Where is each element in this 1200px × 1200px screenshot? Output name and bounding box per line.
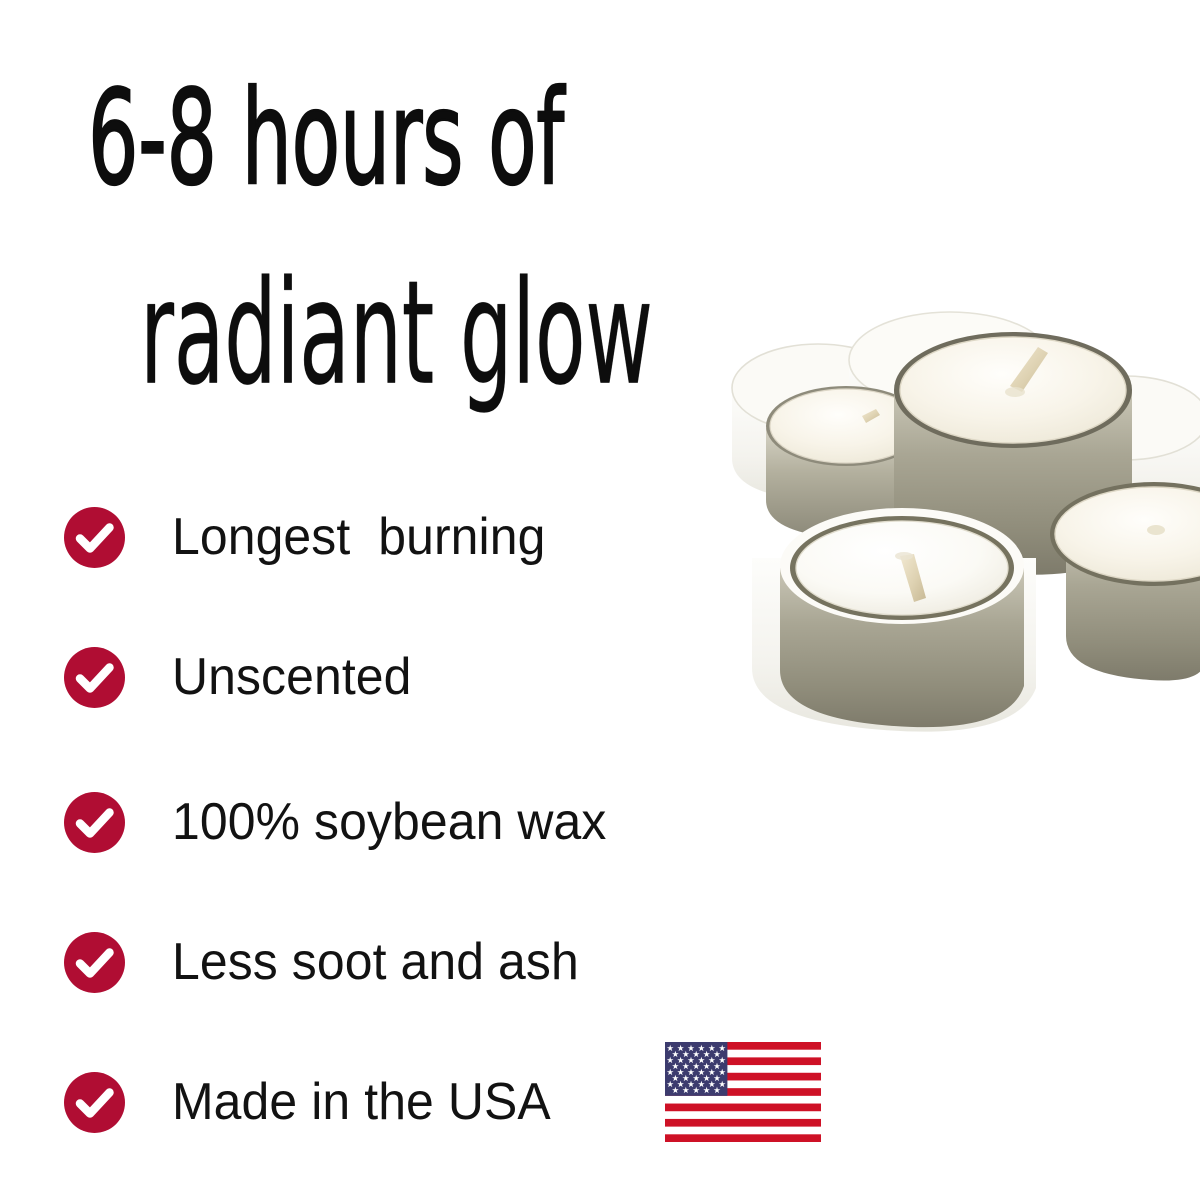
tealight-candles-photo [714, 268, 1200, 752]
list-item: Longest burning [64, 505, 561, 569]
check-circle-icon [64, 792, 125, 853]
usa-flag-icon [665, 1042, 821, 1142]
check-circle-icon [64, 1072, 125, 1133]
list-item: Less soot and ash [64, 930, 596, 994]
headline-line-2: radiant glow [140, 262, 560, 406]
feature-label: Less soot and ash [172, 934, 579, 990]
feature-label: Unscented [172, 649, 412, 705]
headline-line-1: 6-8 hours of [88, 74, 522, 205]
list-item: Unscented [64, 645, 422, 709]
candle-front-bottom [752, 508, 1036, 732]
check-circle-icon [64, 647, 125, 708]
candle-right-front [1050, 482, 1200, 681]
feature-label: Longest burning [172, 509, 545, 565]
feature-label: Made in the USA [172, 1074, 551, 1130]
check-circle-icon [64, 507, 125, 568]
list-item: 100% soybean wax [64, 790, 625, 854]
infographic-canvas: 6-8 hours of radiant glow Longest burnin… [0, 0, 1200, 1200]
list-item: Made in the USA [64, 1070, 567, 1134]
check-circle-icon [64, 932, 125, 993]
feature-label: 100% soybean wax [172, 794, 606, 850]
